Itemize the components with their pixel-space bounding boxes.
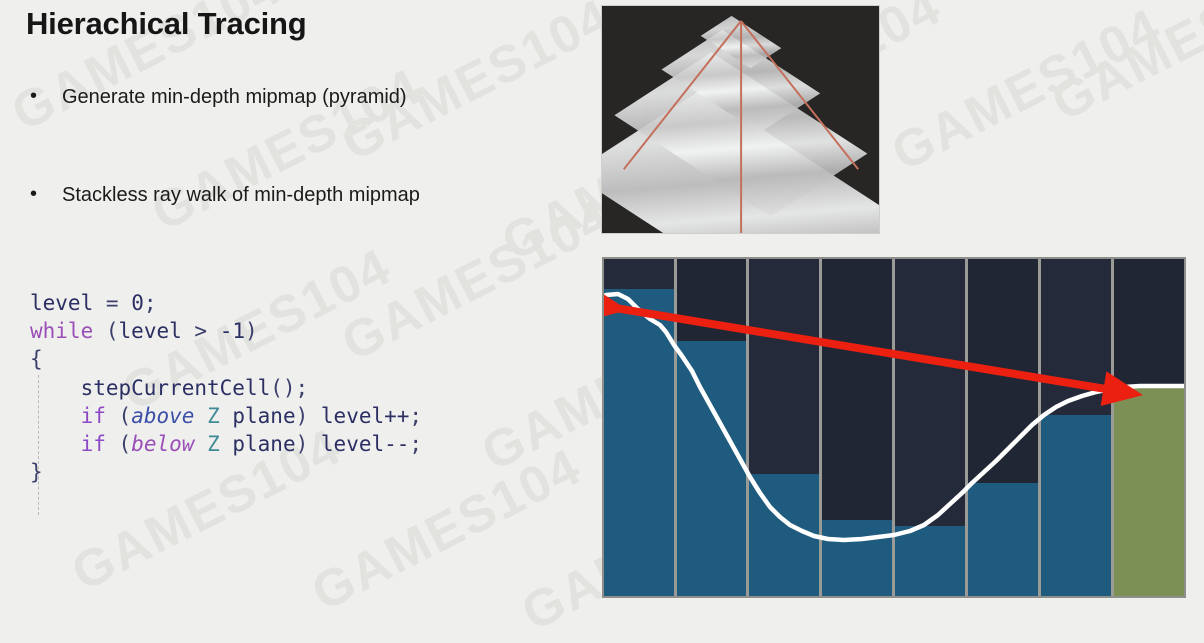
code-token: [220, 432, 233, 456]
code-token: ;: [144, 291, 157, 315]
code-token: level: [30, 291, 93, 315]
bullet-marker: •: [30, 184, 62, 204]
bullet-text: Generate min-depth mipmap (pyramid): [62, 86, 407, 108]
code-token: [106, 404, 119, 428]
code-token: ();: [270, 376, 308, 400]
code-token: if: [81, 404, 106, 428]
code-token: }: [30, 460, 43, 484]
code-token: [308, 432, 321, 456]
code-token: [207, 319, 220, 343]
code-token: ): [296, 432, 309, 456]
pyramid-edge: [740, 21, 742, 233]
code-line: }: [30, 458, 422, 486]
code-token: [194, 432, 207, 456]
code-block: level = 0;while (level > -1){ stepCurren…: [30, 289, 422, 486]
code-token: plane: [232, 404, 295, 428]
bullet-text: Stackless ray walk of min-depth mipmap: [62, 184, 420, 206]
code-token: [308, 404, 321, 428]
code-token: above: [131, 404, 194, 428]
code-token: ;: [409, 432, 422, 456]
code-line: while (level > -1): [30, 317, 422, 345]
code-line: stepCurrentCell();: [30, 374, 422, 402]
code-token: [93, 291, 106, 315]
code-line: if (above Z plane) level++;: [30, 402, 422, 430]
code-token: [93, 319, 106, 343]
code-token: ;: [409, 404, 422, 428]
ray-arrow: [604, 259, 1186, 598]
code-token: [119, 291, 132, 315]
page-title: Hierachical Tracing: [26, 6, 307, 42]
code-token: Z: [207, 404, 220, 428]
code-token: [194, 404, 207, 428]
code-token: level: [119, 319, 182, 343]
min-depth-raywalk-figure: [602, 257, 1186, 598]
code-token: (: [119, 404, 132, 428]
code-line: if (below Z plane) level--;: [30, 430, 422, 458]
code-token: -1: [220, 319, 245, 343]
mipmap-pyramid-figure: [601, 5, 880, 234]
code-token: (: [119, 432, 132, 456]
bullet-item-0: • Generate min-depth mipmap (pyramid): [30, 86, 407, 108]
code-token: ): [296, 404, 309, 428]
code-token: if: [81, 432, 106, 456]
code-token: 0: [131, 291, 144, 315]
code-token: >: [194, 319, 207, 343]
code-token: {: [30, 347, 43, 371]
code-token: stepCurrentCell: [81, 376, 271, 400]
code-token: =: [106, 291, 119, 315]
code-token: (: [106, 319, 119, 343]
code-line: level = 0;: [30, 289, 422, 317]
code-token: [182, 319, 195, 343]
code-token: [106, 432, 119, 456]
watermark-text: GAMES104: [882, 0, 1171, 183]
code-line: {: [30, 345, 422, 373]
watermark-text: GAMES104: [1042, 0, 1204, 133]
code-token: [220, 404, 233, 428]
bullet-marker: •: [30, 86, 62, 106]
code-token: level--: [321, 432, 410, 456]
code-token: ): [245, 319, 258, 343]
code-token: below: [131, 432, 194, 456]
code-token: while: [30, 319, 93, 343]
bullet-item-1: • Stackless ray walk of min-depth mipmap: [30, 184, 420, 206]
code-token: plane: [232, 432, 295, 456]
code-token: Z: [207, 432, 220, 456]
code-token: level++: [321, 404, 410, 428]
watermark-text: GAMES104: [142, 57, 431, 244]
